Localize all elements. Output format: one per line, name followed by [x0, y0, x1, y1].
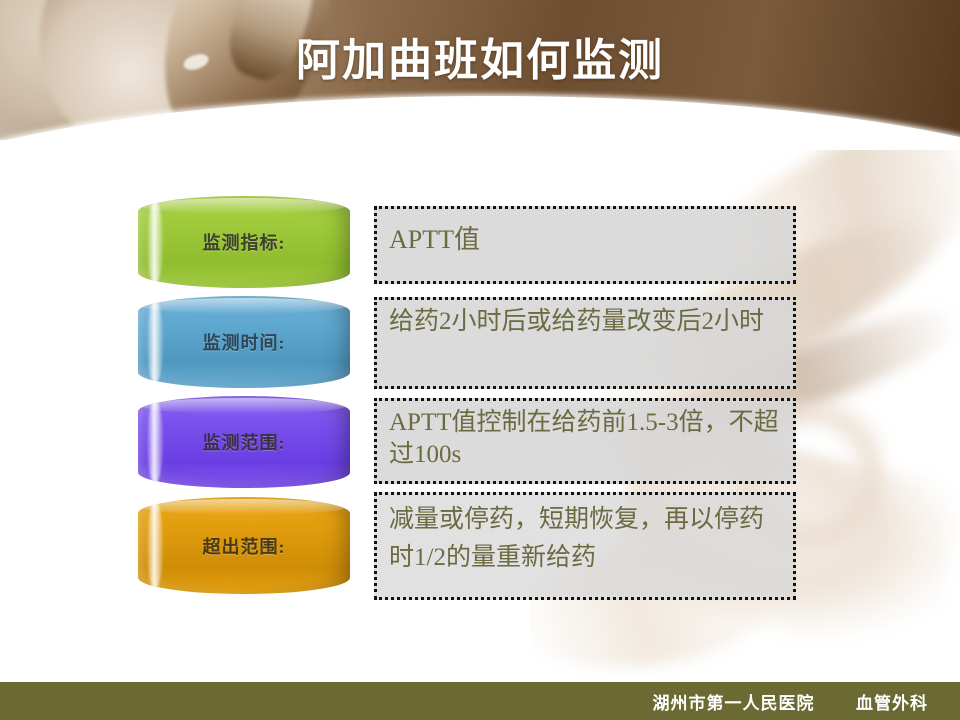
content-box-monitoring-indicator: APTT值 — [374, 206, 796, 284]
cylinder-monitoring-range: 监测范围: — [138, 396, 350, 488]
cylinder-label: 监测范围: — [138, 396, 350, 488]
footer-bar: 湖州市第一人民医院 血管外科 — [0, 682, 960, 720]
cylinder-label: 监测时间: — [138, 296, 350, 388]
slide-title: 阿加曲班如何监测 — [0, 24, 960, 88]
cylinder-out-of-range: 超出范围: — [138, 497, 350, 594]
footer-text: 湖州市第一人民医院 血管外科 — [652, 689, 928, 714]
content-box-monitoring-range: APTT值控制在给药前1.5-3倍，不超过100s — [374, 398, 796, 484]
cylinder-monitoring-indicator: 监测指标: — [138, 196, 350, 288]
slide-canvas: 阿加曲班如何监测 监测指标: 监测时间: 监测范围: 超出范围: APTT值 给… — [0, 0, 960, 720]
cylinder-label: 监测指标: — [138, 196, 350, 288]
cylinder-label: 超出范围: — [138, 497, 350, 594]
content-box-out-of-range: 减量或停药，短期恢复，再以停药时1/2的量重新给药 — [374, 492, 796, 600]
cylinder-monitoring-time: 监测时间: — [138, 296, 350, 388]
content-box-monitoring-time: 给药2小时后或给药量改变后2小时 — [374, 297, 796, 389]
